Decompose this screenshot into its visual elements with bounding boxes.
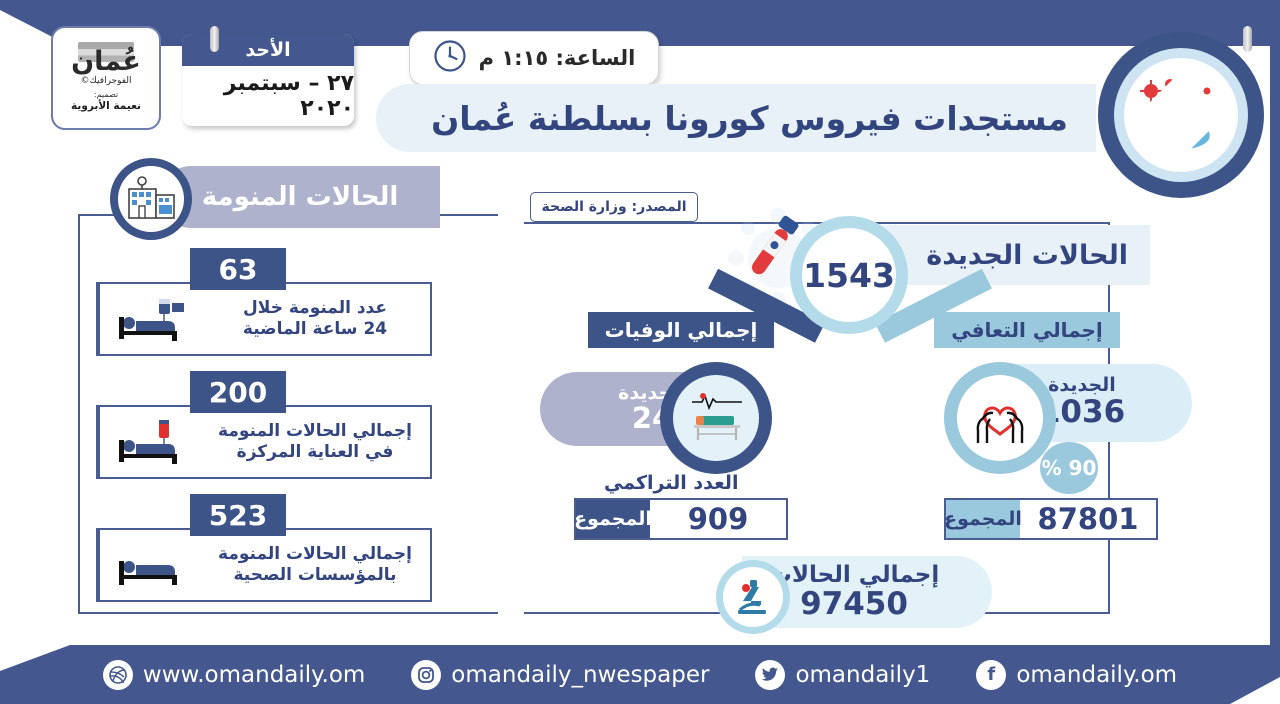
footer-link-twitter-text: omandaily1	[795, 662, 930, 688]
dribbble-icon	[103, 660, 133, 690]
page-title-text: مستجدات فيروس كورونا بسلطنة عُمان	[431, 99, 1068, 138]
microscope-icon	[723, 567, 783, 627]
table-row: إجمالي الحالات المنومةفي العناية المركزة	[96, 405, 432, 479]
hospital-bed-iv-icon	[98, 284, 200, 354]
new-cases-value: 1543	[803, 256, 895, 295]
hospitalized-section-badge	[110, 158, 192, 240]
recoveries-badge	[944, 362, 1056, 474]
recovery-percent-value: 90 %	[1042, 456, 1097, 480]
source-label: المصدر: وزارة الصحة	[530, 192, 698, 222]
logo-by: تصميم:	[94, 90, 118, 99]
deaths-label: إجمالي الوفيات	[588, 312, 774, 348]
hospital-icon	[118, 166, 184, 232]
table-row: إجمالي الحالات المنومةبالمؤسسات الصحية	[96, 528, 432, 602]
instagram-icon	[411, 660, 441, 690]
deaths-cumulative-label: العدد التراكمي	[604, 472, 738, 494]
deaths-label-text: إجمالي الوفيات	[605, 318, 758, 342]
footer-link-instagram-text: omandaily_nwespaper	[451, 662, 709, 688]
total-cases-badge	[716, 560, 790, 634]
hospital-bed-icon	[98, 530, 200, 600]
hospitalized-row-0-value: 63	[190, 248, 286, 290]
designer-logo: عُمان الفوجرافيك© تصميم: نعيمة الأبروية	[51, 26, 161, 130]
badge-core	[1124, 58, 1238, 172]
stretcher-icon	[673, 375, 759, 461]
hospitalized-section-title: الحالات المنومة	[160, 166, 440, 228]
hands-heart-icon	[957, 375, 1043, 461]
table-row: عدد المنومة خلال24 ساعة الماضية	[96, 282, 432, 356]
right-edge-bar	[1270, 0, 1280, 660]
hospital-bed-blood-icon	[98, 407, 200, 477]
hospitalized-row-2-value: 523	[190, 494, 286, 536]
recoveries-label: إجمالي التعافي	[934, 312, 1120, 348]
date-calendar: الأحد ٢٧ – سبتمبر ٢٠٢٠	[182, 34, 354, 126]
footer-link-facebook[interactable]: f omandaily.om	[976, 660, 1177, 690]
deaths-total-box: المجموع 909	[574, 498, 788, 540]
clock-icon	[433, 39, 467, 78]
recoveries-total-box: المجموع 87801	[944, 498, 1158, 540]
clock-label: الساعة: ١:١٥ م	[479, 46, 636, 70]
hospitalized-row-0-label: عدد المنومة خلال24 ساعة الماضية	[200, 284, 430, 354]
hand-holding-test-tube-icon	[1124, 58, 1238, 172]
calendar-date: ٢٧ – سبتمبر ٢٠٢٠	[182, 66, 354, 126]
recoveries-new-label: الجديدة	[1048, 376, 1116, 395]
badge-inner-ring	[1114, 48, 1248, 182]
recoveries-total-value: 87801	[1020, 502, 1156, 536]
time-pill: الساعة: ١:١٥ م	[409, 31, 659, 85]
recovery-percent-badge: 90 %	[1040, 442, 1098, 494]
hospitalized-row-2-label: إجمالي الحالات المنومةبالمؤسسات الصحية	[200, 530, 430, 600]
logo-word: عُمان	[71, 48, 141, 75]
source-label-text: المصدر: وزارة الصحة	[541, 199, 686, 215]
logo-sub: الفوجرافيك©	[80, 76, 131, 86]
page-title: مستجدات فيروس كورونا بسلطنة عُمان	[376, 84, 1096, 152]
total-cases-value: 97450	[800, 587, 908, 621]
hospitalized-row-1-label: إجمالي الحالات المنومةفي العناية المركزة	[200, 407, 430, 477]
recoveries-total-tag: المجموع	[946, 500, 1020, 538]
deaths-total-tag: المجموع	[576, 500, 650, 538]
footer-link-twitter[interactable]: omandaily1	[755, 660, 930, 690]
calendar-weekday: الأحد	[182, 34, 354, 66]
facebook-icon: f	[976, 660, 1006, 690]
logo-designer-name: نعيمة الأبروية	[71, 100, 141, 112]
calendar-ring-left	[210, 26, 219, 52]
calendar-ring-right	[1243, 26, 1252, 52]
new-cases-badge: 1543	[790, 216, 908, 334]
hospitalized-row-1-value: 200	[190, 371, 286, 413]
header-virus-badge	[1098, 32, 1264, 198]
footer-link-facebook-text: omandaily.om	[1016, 662, 1177, 688]
footer-link-instagram[interactable]: omandaily_nwespaper	[411, 660, 709, 690]
footer-links: f omandaily.om omandaily1 omandaily_nwes…	[0, 645, 1280, 704]
deaths-badge	[660, 362, 772, 474]
twitter-icon	[755, 660, 785, 690]
deaths-total-value: 909	[650, 502, 786, 536]
new-cases-badge-inner: 1543	[802, 228, 896, 322]
hospitalized-section-title-text: الحالات المنومة	[202, 182, 399, 212]
new-cases-label: الحالات الجديدة	[926, 240, 1128, 271]
footer-link-website[interactable]: www.omandaily.om	[103, 660, 365, 690]
footer-link-website-text: www.omandaily.om	[143, 662, 365, 688]
recoveries-label-text: إجمالي التعافي	[951, 318, 1103, 342]
total-cases-label: إجمالي الحالات	[769, 563, 939, 587]
infographic-canvas: عُمان الفوجرافيك© تصميم: نعيمة الأبروية …	[0, 0, 1280, 704]
